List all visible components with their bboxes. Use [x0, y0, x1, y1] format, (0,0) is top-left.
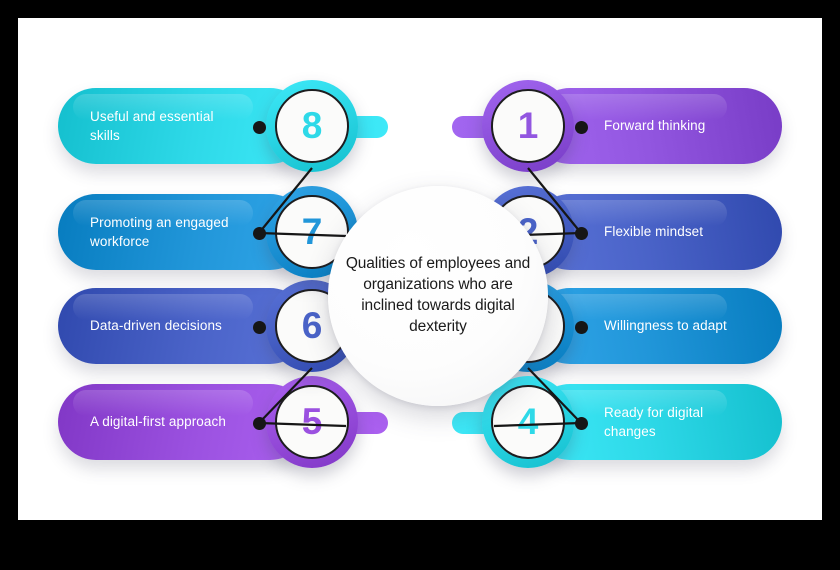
infographic-canvas: Qualities of employees and organizations…: [18, 18, 822, 520]
connector-dot: [253, 417, 266, 430]
connector-dot: [575, 417, 588, 430]
diagram-item-8[interactable]: Useful and essential skills8: [58, 80, 388, 172]
center-hub-text: Qualities of employees and organizations…: [340, 254, 536, 338]
connector-dot: [253, 227, 266, 240]
item-label: Flexible mindset: [604, 222, 703, 241]
item-number: 1: [491, 89, 565, 163]
item-label: Ready for digital changes: [604, 403, 750, 441]
item-label: Forward thinking: [604, 116, 705, 135]
center-hub: Qualities of employees and organizations…: [328, 186, 548, 406]
diagram-item-5[interactable]: A digital-first approach5: [58, 376, 388, 468]
connector-dot: [253, 321, 266, 334]
diagram-item-1[interactable]: Forward thinking1: [452, 80, 782, 172]
item-number-badge[interactable]: 1: [482, 80, 574, 172]
diagram-item-4[interactable]: Ready for digital changes4: [452, 376, 782, 468]
item-label: Willingness to adapt: [604, 316, 727, 335]
item-number: 5: [275, 385, 349, 459]
item-number: 8: [275, 89, 349, 163]
connector-dot: [575, 121, 588, 134]
item-label: A digital-first approach: [90, 412, 226, 431]
item-label: Useful and essential skills: [90, 107, 236, 145]
item-number-badge[interactable]: 5: [266, 376, 358, 468]
connector-dot: [575, 321, 588, 334]
item-label: Data-driven decisions: [90, 316, 222, 335]
connector-dot: [253, 121, 266, 134]
item-number: 4: [491, 385, 565, 459]
item-number-badge[interactable]: 8: [266, 80, 358, 172]
item-number-badge[interactable]: 4: [482, 376, 574, 468]
connector-dot: [575, 227, 588, 240]
item-label: Promoting an engaged workforce: [90, 213, 236, 251]
